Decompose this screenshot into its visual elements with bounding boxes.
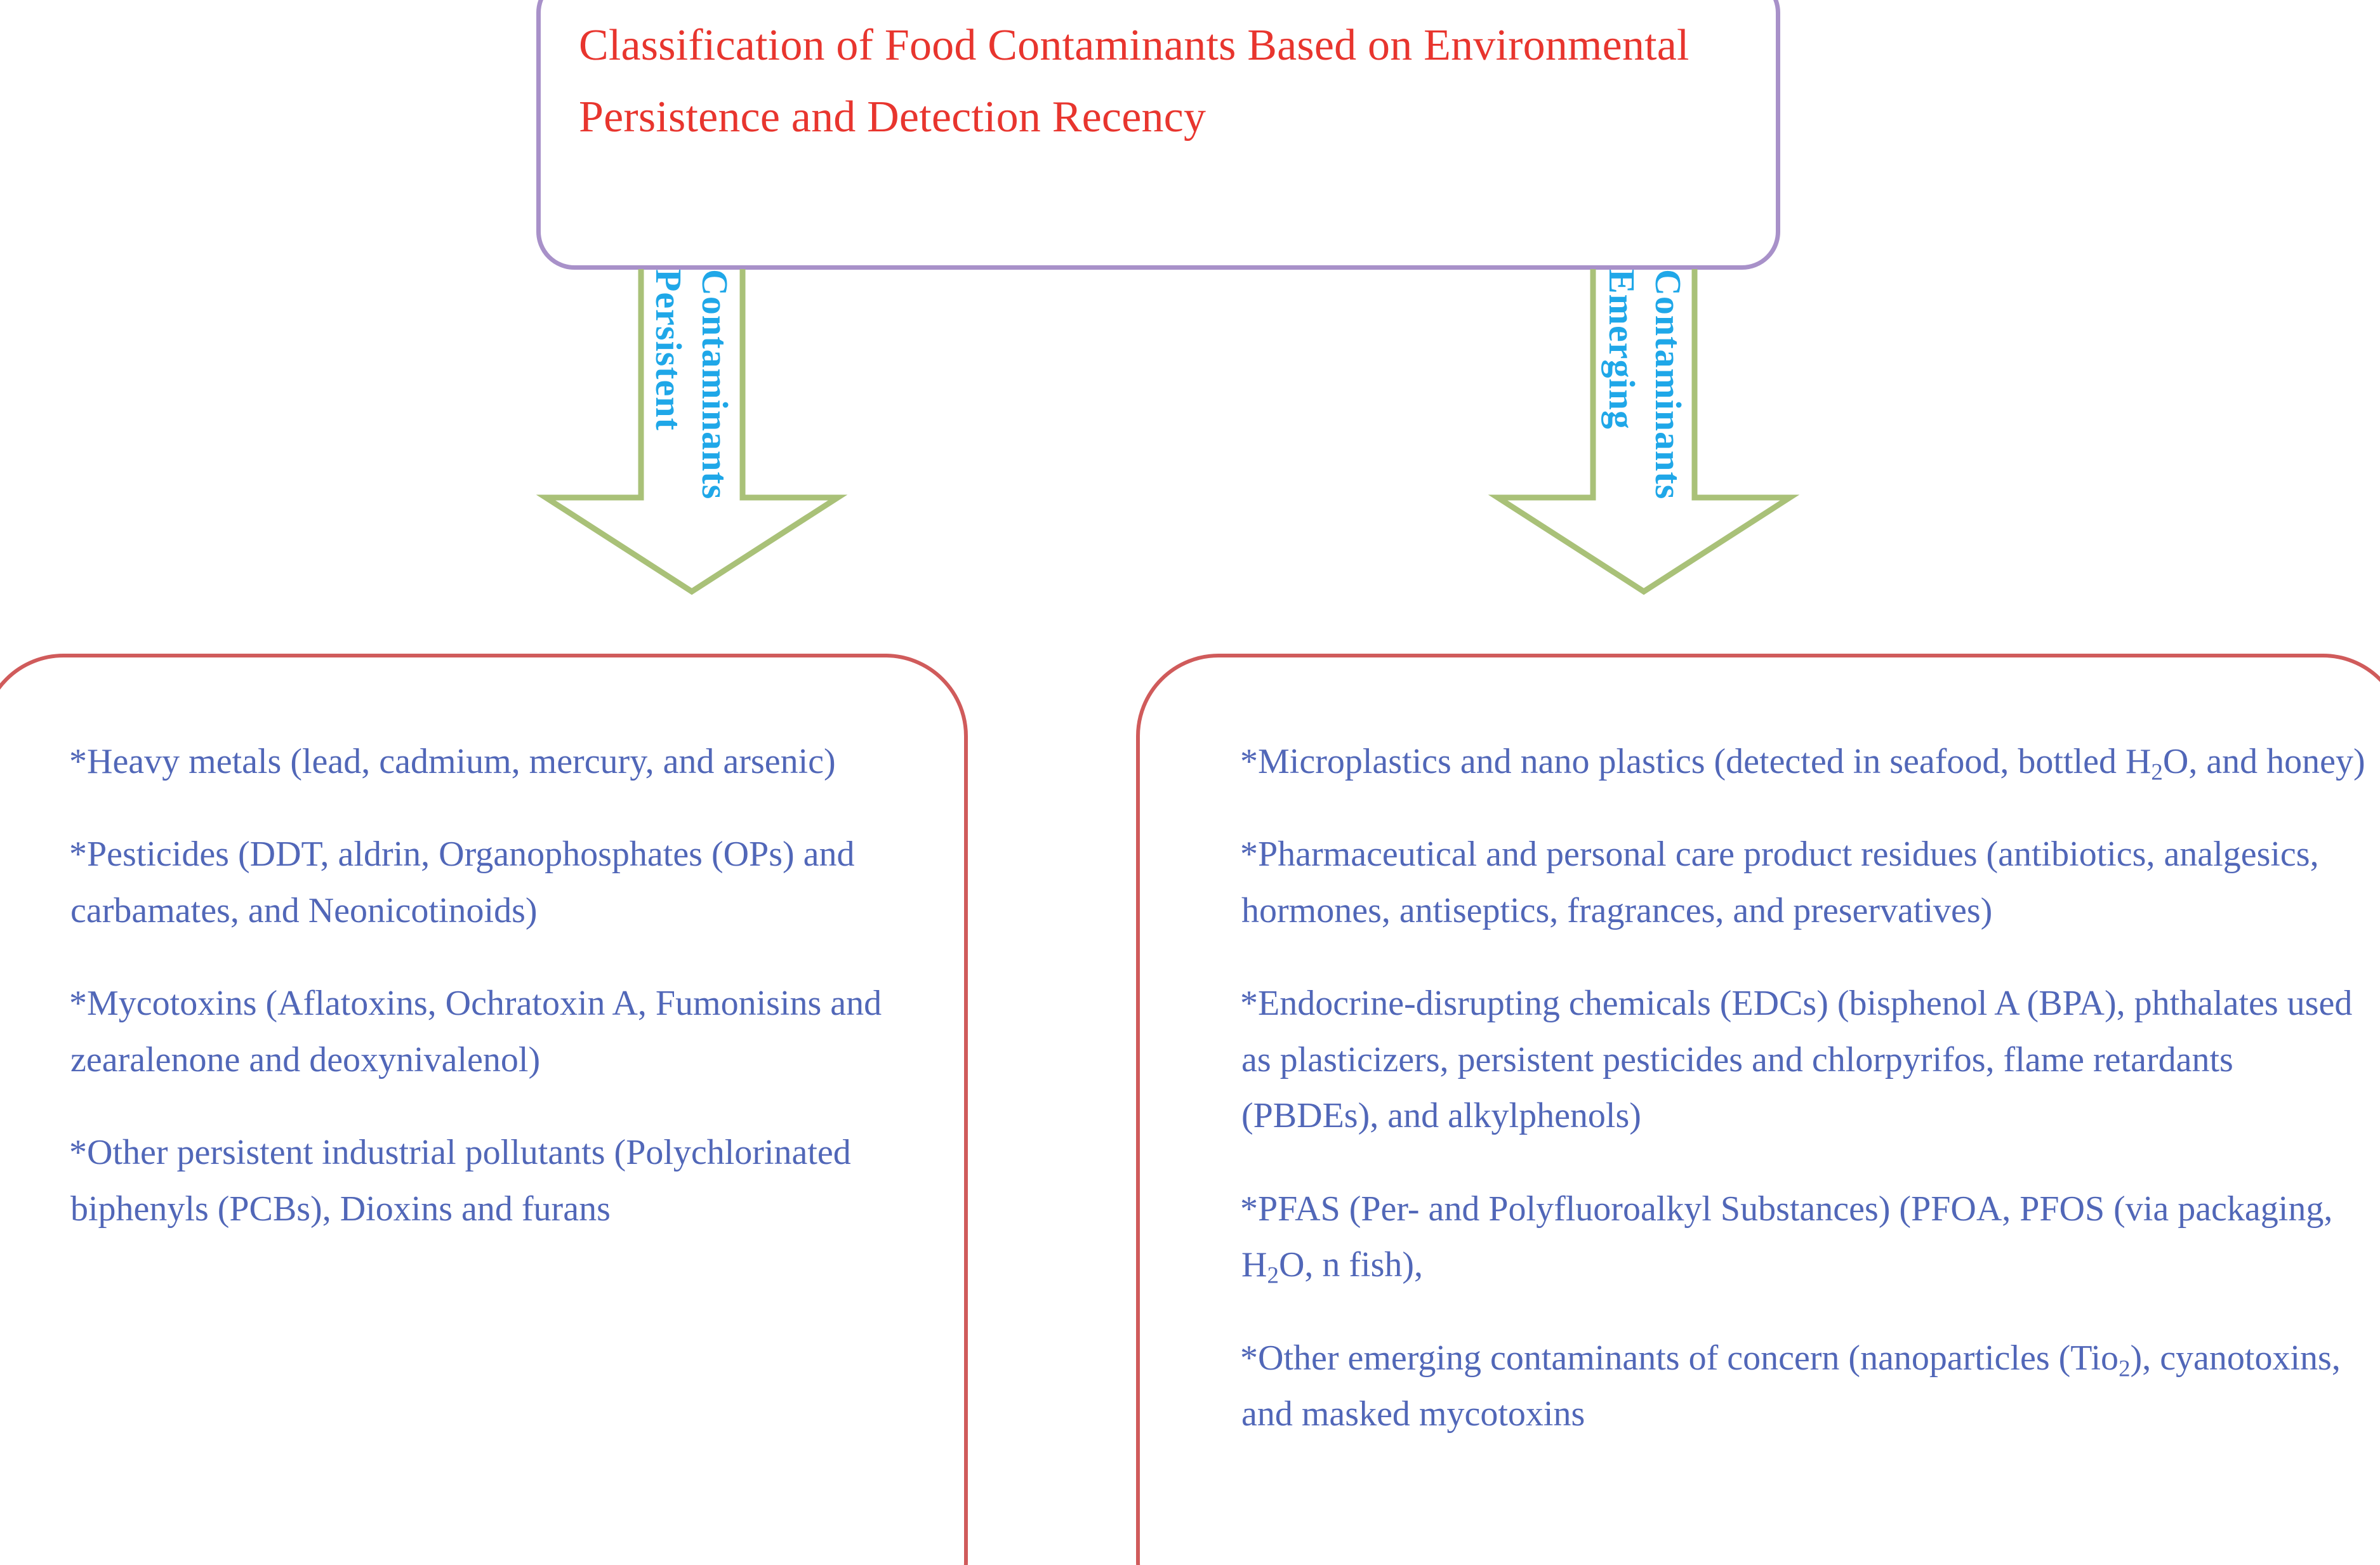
emerging-bullet-list: *Microplastics and nano plastics (detect… <box>1241 734 2377 1443</box>
bullet-item: *Mycotoxins (Aflatoxins, Ochratoxin A, F… <box>70 975 902 1088</box>
bullet-item: *Other persistent industrial pollutants … <box>70 1125 902 1237</box>
bullet-item: *Other emerging contaminants of concern … <box>1241 1330 2377 1443</box>
page-title: Classification of Food Contaminants Base… <box>579 10 1740 154</box>
emerging-contaminants-box: *Microplastics and nano plastics (detect… <box>1136 654 2380 1565</box>
title-box: Classification of Food Contaminants Base… <box>536 0 1780 270</box>
bullet-item: *Endocrine-disrupting chemicals (EDCs) (… <box>1241 975 2377 1144</box>
persistent-bullet-list: *Heavy metals (lead, cadmium, mercury, a… <box>70 734 902 1237</box>
down-arrow-icon-persistent <box>495 269 889 593</box>
arrow-shape <box>1447 269 1841 593</box>
persistent-contaminants-box: *Heavy metals (lead, cadmium, mercury, a… <box>0 654 968 1565</box>
arrow-shape <box>495 269 889 593</box>
down-arrow-icon-emerging <box>1447 269 1841 593</box>
bullet-item: *Pharmaceutical and personal care produc… <box>1241 826 2377 939</box>
bullet-item: *PFAS (Per- and Polyfluoroalkyl Substanc… <box>1241 1181 2377 1293</box>
diagram-canvas: Classification of Food Contaminants Base… <box>0 0 2380 1565</box>
bullet-item: *Heavy metals (lead, cadmium, mercury, a… <box>70 734 902 789</box>
bullet-item: *Pesticides (DDT, aldrin, Organophosphat… <box>70 826 902 939</box>
title-line-1: Classification of Food Contaminants Base… <box>579 10 1740 81</box>
title-line-2: Persistence and Detection Recency <box>579 81 1740 153</box>
bullet-item: *Microplastics and nano plastics (detect… <box>1241 734 2377 789</box>
